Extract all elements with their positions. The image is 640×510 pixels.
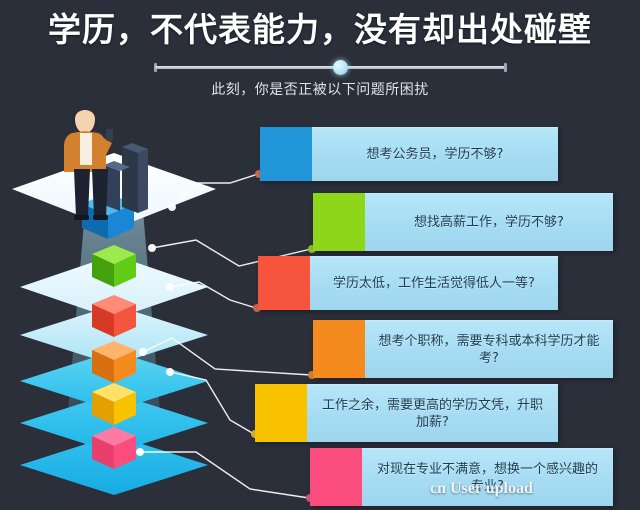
row-5-panel: 工作之余，需要更高的学历文凭，升职加薪? [307, 384, 558, 442]
row-4-color-swatch [313, 320, 365, 378]
slider-cap-right-icon [504, 63, 507, 72]
poster-canvas: 学历，不代表能力，没有却出处碰壁 此刻，你是否正被以下问题所困扰 [0, 0, 640, 510]
row-2-color-swatch [313, 193, 365, 251]
row-1-label: 想考公务员，学历不够? [367, 146, 504, 163]
row-1-panel: 想考公务员，学历不够? [312, 127, 558, 181]
row-5-label: 工作之余，需要更高的学历文凭，升职加薪? [317, 397, 548, 431]
bar-chart-icon [104, 143, 148, 213]
problem-row-5[interactable]: 工作之余，需要更高的学历文凭，升职加薪? [255, 384, 558, 442]
slider-knob-icon [333, 60, 348, 75]
problem-row-1[interactable]: 想考公务员，学历不够? [260, 127, 558, 181]
decorative-slider-track [155, 66, 505, 69]
row-3-panel: 学历太低，工作生活觉得低人一等? [310, 256, 558, 310]
row-4-label: 想考个职称，需要专科或本科学历才能考? [375, 333, 603, 367]
watermark-text: cn User upload [430, 479, 533, 499]
problem-row-2[interactable]: 想找高薪工作，学历不够? [313, 193, 613, 251]
row-4-panel: 想考个职称，需要专科或本科学历才能考? [365, 320, 613, 378]
row-3-label: 学历太低，工作生活觉得低人一等? [333, 275, 535, 292]
page-title: 学历，不代表能力，没有却出处碰壁 [0, 8, 640, 52]
row-6-color-swatch [310, 448, 362, 506]
problem-row-4[interactable]: 想考个职称，需要专科或本科学历才能考? [313, 320, 613, 378]
isometric-layers-illustration [10, 105, 250, 505]
problem-row-3[interactable]: 学历太低，工作生活觉得低人一等? [258, 256, 558, 310]
row-5-color-swatch [255, 384, 307, 442]
row-3-color-swatch [258, 256, 310, 310]
page-subtitle: 此刻，你是否正被以下问题所困扰 [0, 80, 640, 100]
row-1-color-swatch [260, 127, 312, 181]
row-2-label: 想找高薪工作，学历不够? [414, 214, 564, 231]
poster-header: 学历，不代表能力，没有却出处碰壁 此刻，你是否正被以下问题所困扰 [0, 0, 640, 108]
row-2-panel: 想找高薪工作，学历不够? [365, 193, 613, 251]
